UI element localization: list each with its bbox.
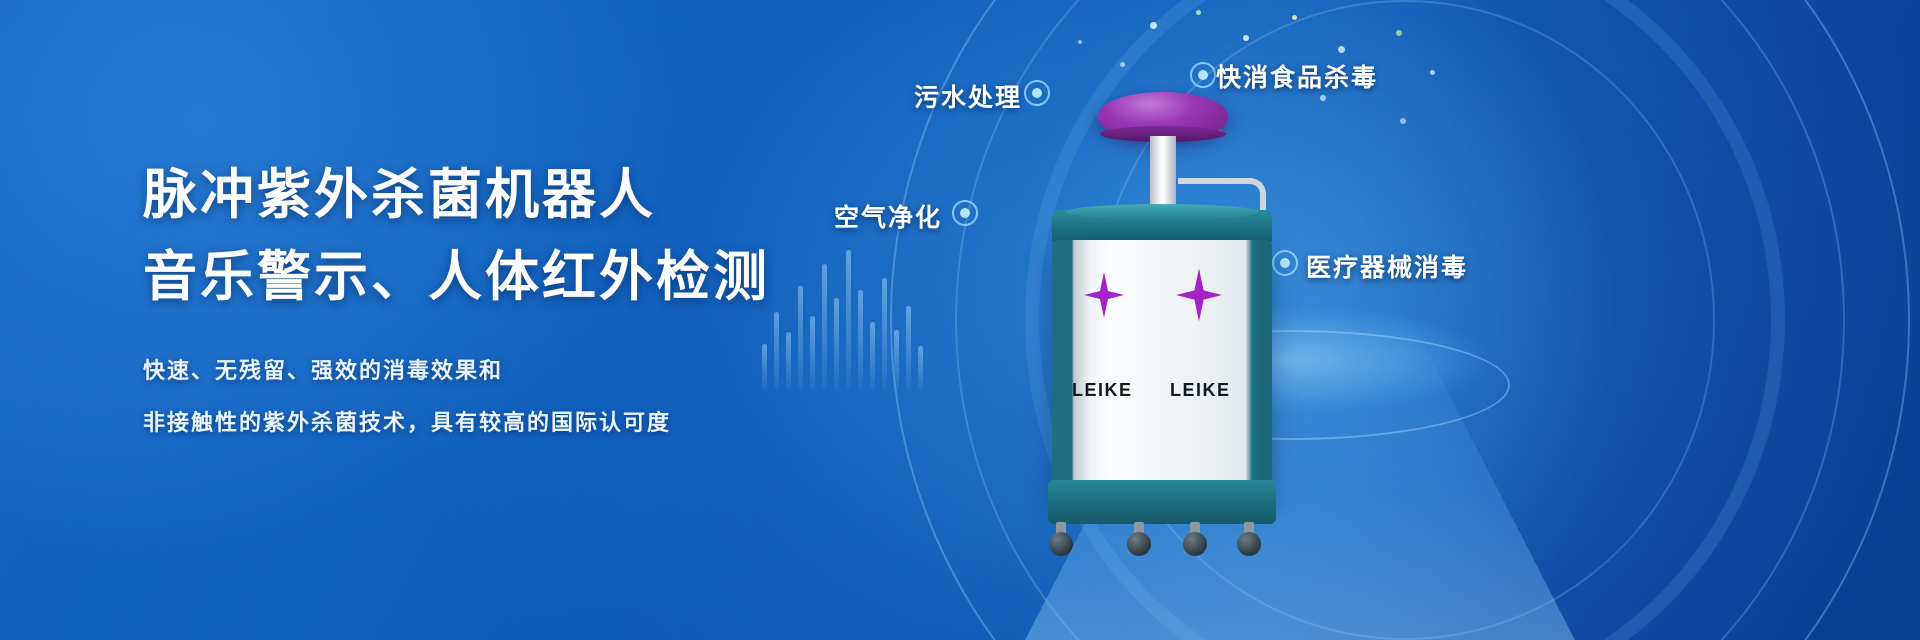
headline-line-2: 音乐警示、人体红外检测 (143, 240, 903, 314)
particle-dot (1430, 70, 1435, 75)
sparkle-star-icon (1084, 272, 1124, 318)
particle-dot (1292, 15, 1297, 20)
particle-dot (1196, 10, 1201, 15)
device-brand-left: LEIKE (1072, 380, 1133, 401)
caster-wheel (1127, 532, 1151, 556)
particle-dot (1338, 46, 1345, 53)
caster-wheel (1237, 532, 1261, 556)
cabinet-base (1048, 480, 1276, 524)
uv-lamp-tube (1150, 136, 1176, 212)
node-ring-food (1190, 62, 1216, 88)
description-line-1: 快速、无残留、强效的消毒效果和 (143, 356, 903, 386)
description-line-2: 非接触性的紫外杀菌技术，具有较高的国际认可度 (143, 408, 903, 438)
caster-wheel (1183, 532, 1207, 556)
banner-description: 快速、无残留、强效的消毒效果和 非接触性的紫外杀菌技术，具有较高的国际认可度 (143, 356, 903, 438)
caster-wheel (1049, 532, 1073, 556)
banner-copy: 脉冲紫外杀菌机器人 音乐警示、人体红外检测 快速、无残留、强效的消毒效果和 非接… (143, 158, 903, 460)
device-brand-right: LEIKE (1170, 380, 1231, 401)
callout-medical-device-disinfection[interactable]: 医疗器械消毒 (1306, 248, 1468, 284)
callout-wastewater-treatment[interactable]: 污水处理 (914, 78, 1022, 114)
uv-disinfection-robot: LEIKE LEIKE (1030, 92, 1290, 512)
particle-dot (1120, 62, 1125, 67)
particle-dot (1320, 95, 1326, 101)
node-ring-air (952, 200, 978, 226)
callout-fmcg-food-sterilization[interactable]: 快消食品杀毒 (1216, 58, 1378, 94)
particle-dot (1400, 118, 1406, 124)
promo-banner: 污水处理 快消食品杀毒 空气净化 医疗器械消毒 LEIKE LEIKE (0, 0, 1920, 640)
particle-dot (1150, 22, 1157, 29)
cabinet-top-face (1066, 204, 1258, 220)
headline-line-1: 脉冲紫外杀菌机器人 (143, 158, 903, 232)
particle-dot (1078, 40, 1082, 44)
particle-dot (1396, 30, 1402, 36)
sparkle-star-icon (1176, 268, 1222, 322)
particle-dot (1243, 35, 1249, 41)
